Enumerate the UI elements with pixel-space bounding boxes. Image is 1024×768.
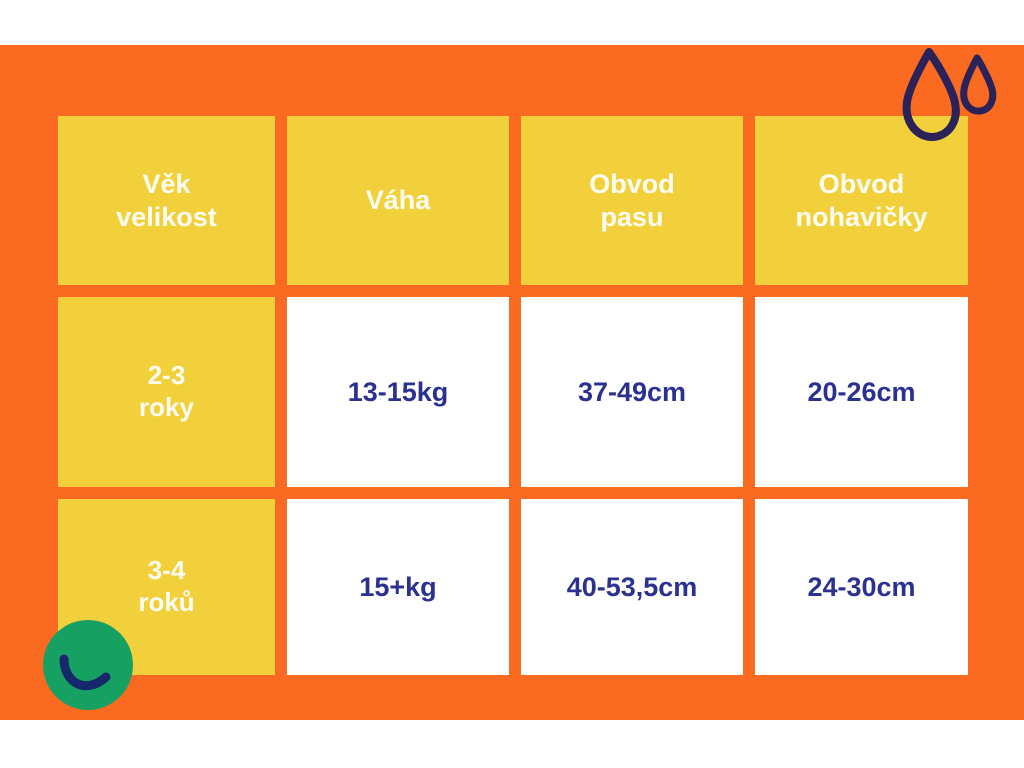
table-row: 40-53,5cm: [521, 499, 743, 675]
size-chart-table: Věk velikost Váha Obvod pasu Obvod nohav…: [58, 116, 958, 663]
table-row: 37-49cm: [521, 297, 743, 487]
cell-leg-row-2: 24-30cm: [807, 571, 915, 604]
table-header-leg: Obvod nohavičky: [755, 116, 968, 285]
cell-waist-row-1: 37-49cm: [578, 376, 686, 409]
table-row: 24-30cm: [755, 499, 968, 675]
header-label-waist: Obvod pasu: [589, 168, 675, 234]
table-row: 15+kg: [287, 499, 509, 675]
cell-waist-row-2: 40-53,5cm: [567, 571, 698, 604]
cell-age-row-1: 2-3 roky: [139, 360, 194, 423]
orange-banner-panel: Věk velikost Váha Obvod pasu Obvod nohav…: [0, 45, 1024, 720]
table-header-weight: Váha: [287, 116, 509, 285]
cell-leg-row-1: 20-26cm: [807, 376, 915, 409]
table-row: 20-26cm: [755, 297, 968, 487]
table-row: 13-15kg: [287, 297, 509, 487]
cell-age-row-2: 3-4 roků: [138, 555, 194, 618]
cell-weight-row-1: 13-15kg: [348, 376, 449, 409]
table-header-waist: Obvod pasu: [521, 116, 743, 285]
infographic-canvas: Věk velikost Váha Obvod pasu Obvod nohav…: [0, 0, 1024, 768]
header-label-age-size: Věk velikost: [116, 168, 217, 234]
table-row: 3-4 roků: [58, 499, 275, 675]
header-label-weight: Váha: [366, 184, 431, 217]
header-label-leg: Obvod nohavičky: [795, 168, 927, 234]
cell-weight-row-2: 15+kg: [359, 571, 436, 604]
table-header-age-size: Věk velikost: [58, 116, 275, 285]
table-row: 2-3 roky: [58, 297, 275, 487]
